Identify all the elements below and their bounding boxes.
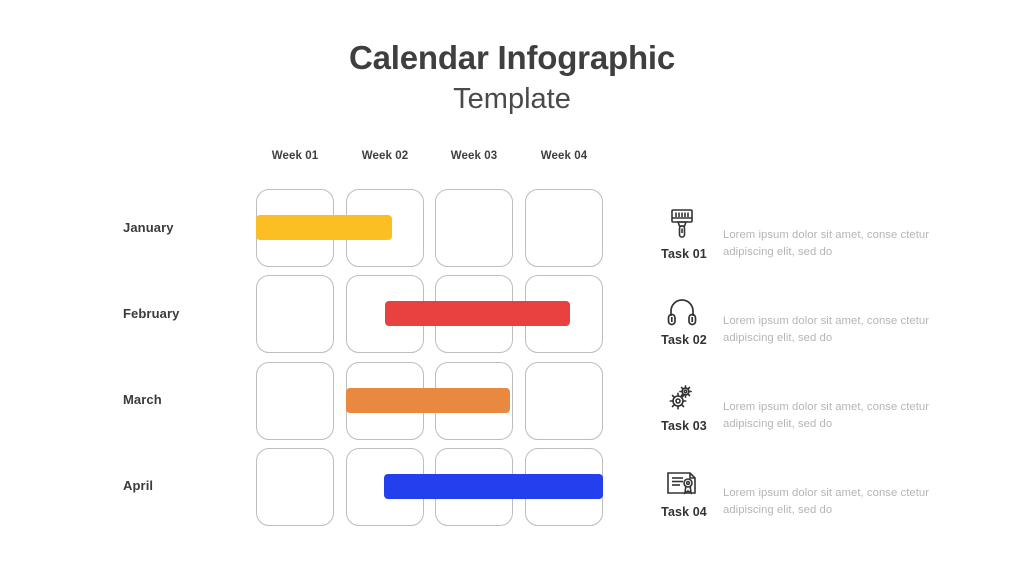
calendar-cell[interactable] [256, 448, 334, 526]
gears-icon [660, 377, 704, 417]
headphones-icon [660, 291, 704, 331]
task-name: Task 04 [648, 505, 720, 519]
calendar-cell[interactable] [525, 362, 603, 440]
page-title: Calendar Infographic [0, 38, 1024, 78]
calendar-cell[interactable] [525, 189, 603, 267]
task-row[interactable]: Task 03 Lorem ipsum dolor sit amet, cons… [648, 377, 948, 447]
calendar-cell[interactable] [435, 189, 513, 267]
task-description: Lorem ipsum dolor sit amet, conse ctetur… [723, 313, 941, 346]
timeline-bar[interactable] [256, 215, 392, 240]
task-name: Task 01 [648, 247, 720, 261]
month-label-january: January [123, 220, 243, 235]
task-description: Lorem ipsum dolor sit amet, conse ctetur… [723, 485, 941, 518]
task-name: Task 02 [648, 333, 720, 347]
month-label-march: March [123, 392, 243, 407]
week-header-1: Week 01 [256, 150, 334, 162]
task-row[interactable]: Task 02 Lorem ipsum dolor sit amet, cons… [648, 291, 948, 361]
calendar-cell[interactable] [256, 362, 334, 440]
task-row[interactable]: Task 01 Lorem ipsum dolor sit amet, cons… [648, 205, 948, 275]
timeline-bar[interactable] [385, 301, 570, 326]
week-header-row: Week 01 Week 02 Week 03 Week 04 [256, 150, 603, 168]
task-description: Lorem ipsum dolor sit amet, conse ctetur… [723, 399, 941, 432]
week-header-4: Week 04 [525, 150, 603, 162]
certificate-icon [660, 463, 704, 503]
task-name: Task 03 [648, 419, 720, 433]
task-row[interactable]: Task 04 Lorem ipsum dolor sit amet, cons… [648, 463, 948, 533]
title-block: Calendar Infographic Template [0, 38, 1024, 119]
calendar-infographic-slide: Calendar Infographic Template Week 01 We… [0, 0, 1024, 576]
paint-brush-icon [660, 205, 704, 245]
timeline-bar[interactable] [346, 388, 510, 413]
month-label-april: April [123, 478, 243, 493]
calendar-cell[interactable] [256, 275, 334, 353]
week-header-3: Week 03 [435, 150, 513, 162]
calendar-grid [256, 189, 603, 521]
task-description: Lorem ipsum dolor sit amet, conse ctetur… [723, 227, 941, 260]
page-subtitle: Template [0, 79, 1024, 119]
month-label-february: February [123, 306, 243, 321]
week-header-2: Week 02 [346, 150, 424, 162]
timeline-bar[interactable] [384, 474, 603, 499]
